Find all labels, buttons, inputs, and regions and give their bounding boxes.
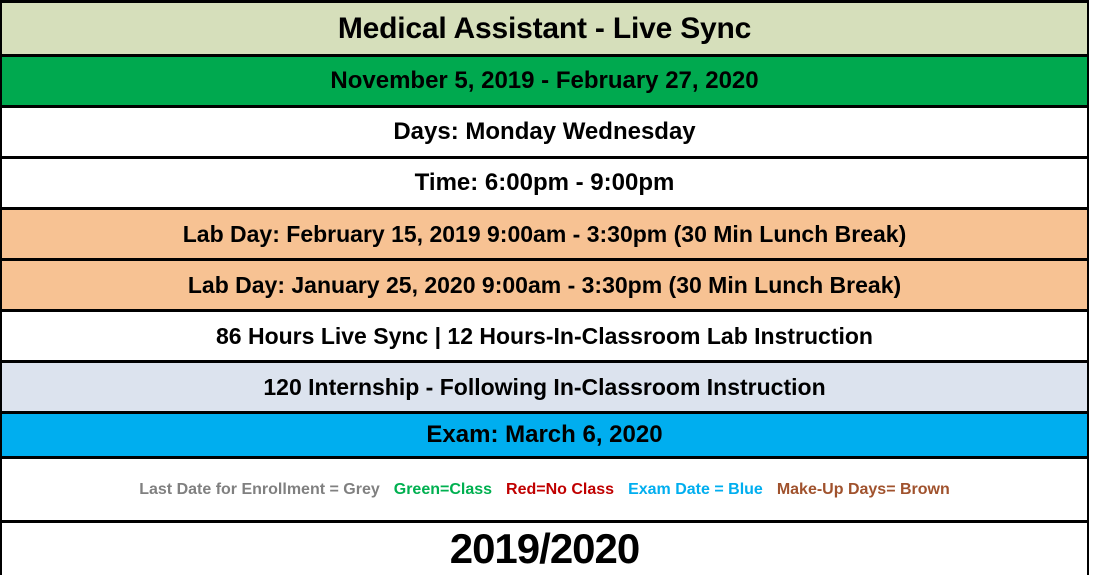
course-title-row: Medical Assistant - Live Sync [0, 0, 1089, 57]
color-legend-row: Last Date for Enrollment = Grey Green=Cl… [0, 459, 1089, 523]
class-days-text: Days: Monday Wednesday [393, 118, 695, 146]
class-time-row: Time: 6:00pm - 9:00pm [0, 159, 1089, 210]
lab-day-1-text: Lab Day: February 15, 2019 9:00am - 3:30… [183, 221, 907, 248]
class-days-row: Days: Monday Wednesday [0, 108, 1089, 159]
course-date-range: November 5, 2019 - February 27, 2020 [330, 67, 758, 95]
instruction-hours-row: 86 Hours Live Sync | 12 Hours-In-Classro… [0, 312, 1089, 363]
legend-item-exam-date: Exam Date = Blue [621, 481, 770, 499]
lab-day-2-text: Lab Day: January 25, 2020 9:00am - 3:30p… [188, 272, 901, 299]
class-time-text: Time: 6:00pm - 9:00pm [415, 169, 675, 197]
internship-text: 120 Internship - Following In-Classroom … [263, 374, 825, 401]
lab-day-1-row: Lab Day: February 15, 2019 9:00am - 3:30… [0, 210, 1089, 261]
instruction-hours-text: 86 Hours Live Sync | 12 Hours-In-Classro… [216, 323, 873, 350]
exam-date-text: Exam: March 6, 2020 [426, 421, 662, 449]
exam-date-row: Exam: March 6, 2020 [0, 414, 1089, 459]
academic-year-row: 2019/2020 [0, 523, 1089, 575]
page-title: Medical Assistant - Live Sync [338, 12, 751, 46]
internship-row: 120 Internship - Following In-Classroom … [0, 363, 1089, 414]
color-legend: Last Date for Enrollment = Grey Green=Cl… [2, 481, 1087, 499]
lab-day-2-row: Lab Day: January 25, 2020 9:00am - 3:30p… [0, 261, 1089, 312]
legend-item-enrollment: Last Date for Enrollment = Grey [132, 481, 387, 499]
course-dates-row: November 5, 2019 - February 27, 2020 [0, 57, 1089, 108]
academic-year-label: 2019/2020 [450, 525, 640, 573]
legend-item-class: Green=Class [387, 481, 499, 499]
legend-item-make-up: Make-Up Days= Brown [770, 481, 957, 499]
course-schedule-table: Medical Assistant - Live Sync November 5… [0, 0, 1089, 575]
legend-item-no-class: Red=No Class [499, 481, 621, 499]
